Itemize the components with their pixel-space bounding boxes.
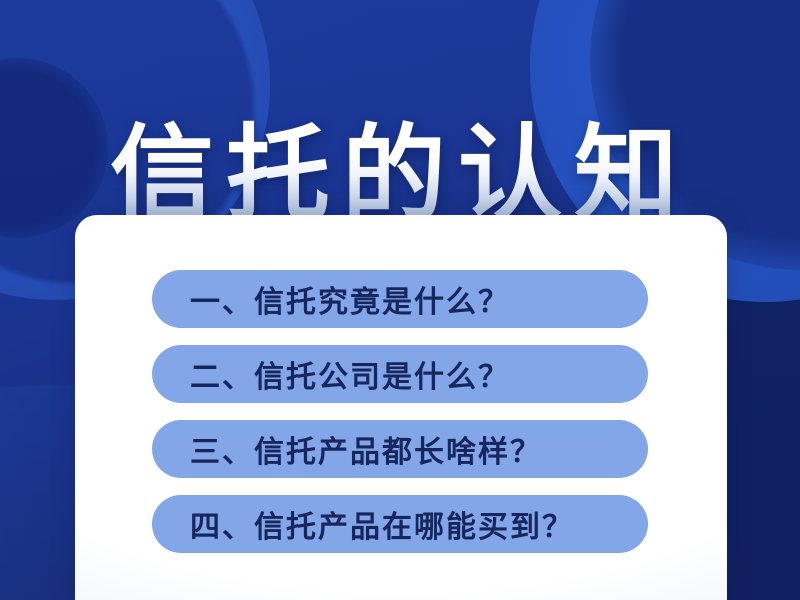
list-item-label: 一、信托究竟是什么？ bbox=[190, 277, 510, 321]
list-item[interactable]: 四、信托产品在哪能买到？ bbox=[152, 495, 648, 553]
list-item[interactable]: 三、信托产品都长啥样？ bbox=[152, 420, 648, 478]
list-item-label: 三、信托产品都长啥样？ bbox=[190, 427, 542, 471]
list-item-label: 二、信托公司是什么？ bbox=[190, 352, 510, 396]
list-item-label: 四、信托产品在哪能买到？ bbox=[190, 502, 574, 546]
list-item[interactable]: 一、信托究竟是什么？ bbox=[152, 270, 648, 328]
content-card: 一、信托究竟是什么？ 二、信托公司是什么？ 三、信托产品都长啥样？ 四、信托产品… bbox=[75, 215, 727, 600]
list-item[interactable]: 二、信托公司是什么？ bbox=[152, 345, 648, 403]
poster-canvas: 信托的认知 一、信托究竟是什么？ 二、信托公司是什么？ 三、信托产品都长啥样？ … bbox=[0, 0, 800, 600]
question-list: 一、信托究竟是什么？ 二、信托公司是什么？ 三、信托产品都长啥样？ 四、信托产品… bbox=[152, 270, 648, 553]
